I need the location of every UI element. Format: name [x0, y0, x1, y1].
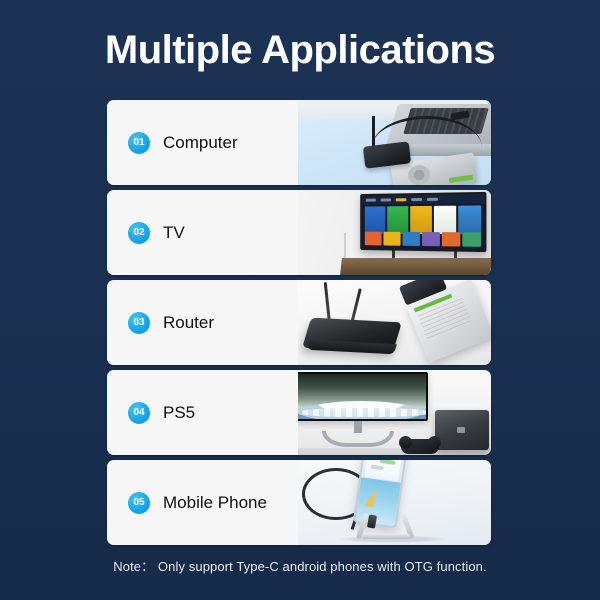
list-item[interactable]: 05 Mobile Phone [107, 460, 491, 545]
list-item[interactable]: 02 TV [107, 190, 491, 275]
number-badge: 05 [128, 492, 150, 514]
application-label-area: 05 Mobile Phone [107, 460, 298, 545]
number-badge: 02 [128, 222, 150, 244]
page-title: Multiple Applications [0, 26, 600, 74]
number-badge: 03 [128, 312, 150, 334]
list-item[interactable]: 01 Computer [107, 100, 491, 185]
application-list: 01 Computer 02 TV [107, 100, 491, 550]
list-item[interactable]: 04 PS5 [107, 370, 491, 455]
application-label: TV [163, 223, 185, 243]
application-label-area: 03 Router [107, 280, 298, 365]
application-label-area: 02 TV [107, 190, 298, 275]
application-label: Mobile Phone [163, 493, 267, 513]
application-label-area: 01 Computer [107, 100, 298, 185]
application-image-ps5 [298, 370, 491, 455]
number-badge: 01 [128, 132, 150, 154]
application-label: Computer [163, 133, 238, 153]
application-image-router [298, 280, 491, 365]
list-item[interactable]: 03 Router [107, 280, 491, 365]
application-label-area: 04 PS5 [107, 370, 298, 455]
application-image-computer [298, 100, 491, 185]
promo-page: Multiple Applications 01 Computer [0, 0, 600, 600]
footer-note: Note： Only support Type-C android phones… [0, 556, 600, 575]
application-image-mobile-phone [298, 460, 491, 545]
application-label: PS5 [163, 403, 195, 423]
application-image-tv [298, 190, 491, 275]
number-badge: 04 [128, 402, 150, 424]
application-label: Router [163, 313, 214, 333]
